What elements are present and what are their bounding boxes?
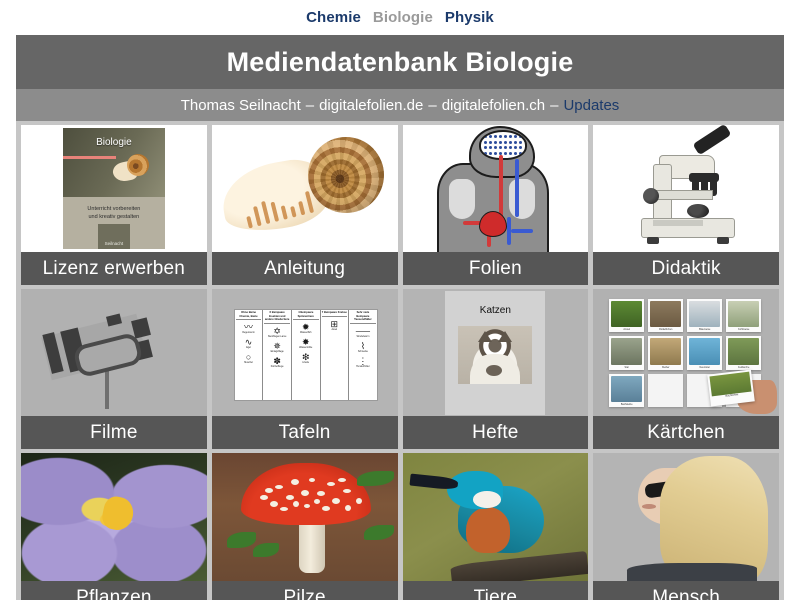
flashcard-label: Kohlmeise — [728, 327, 759, 332]
book-subtitle-line-2: und kreativ gestalten — [63, 213, 165, 222]
tile-image-area: AmselRotkehlchenBlaumeiseKohlmeiseStarKl… — [593, 289, 779, 416]
tile-kaertchen[interactable]: AmselRotkehlchenBlaumeiseKohlmeiseStarKl… — [593, 289, 779, 449]
chart-column-header: Sehr viele Beinpaare Tausendfüßer — [350, 311, 376, 324]
flashcard[interactable]: Blaumeise — [687, 299, 722, 332]
flashcard[interactable]: Feldlerche — [726, 336, 761, 369]
flashcard-label: Bachstelze — [611, 402, 642, 407]
chart-entry: ⊞Assel — [322, 320, 348, 332]
chart-entry: ✡Steinfliegen-Larve — [264, 327, 290, 339]
chart-entry: ✸Wassermilbe — [293, 338, 319, 350]
nautilus-shell-image — [212, 125, 398, 252]
flashcard-label: Kleiber — [650, 365, 681, 370]
tile-caption-folien[interactable]: Folien — [403, 252, 589, 285]
chart-column-header: 7 Beinpaare Krebse — [322, 311, 348, 317]
tile-image-area: Katzen — [403, 289, 589, 416]
chart-column-header: Ohne Beine Chemie, Bezie — [236, 311, 262, 320]
publisher-logo: Seilnacht — [98, 224, 130, 249]
nav-item-chemie[interactable]: Chemie — [306, 9, 361, 26]
tile-image-area — [593, 125, 779, 252]
book-cover-title: Biologie — [63, 137, 165, 148]
tile-caption-tafeln[interactable]: Tafeln — [212, 416, 398, 449]
top-navigation: Chemie Biologie Physik — [0, 0, 800, 35]
chart-column-header: 6 Beinpaare Insekten und andere Gliedert… — [264, 311, 290, 324]
human-circulatory-system-image — [403, 125, 589, 252]
book-cover-image: Biologie Unterricht vorbereiten und krea… — [63, 128, 165, 249]
tile-image-area: Biologie Unterricht vorbereiten und krea… — [21, 125, 207, 252]
book-cover-rule — [63, 156, 116, 159]
nautilus-icon — [113, 154, 149, 184]
tile-folien[interactable]: Folien — [403, 125, 589, 285]
book-subtitle-line-1: Unterricht vorbereiten — [63, 205, 165, 214]
chart-column: Sehr viele Beinpaare Tausendfüßer⸺Strude… — [349, 310, 377, 400]
subtitle-bar: Thomas Seilnacht – digitalefolien.de – d… — [16, 89, 784, 121]
booklet-image: Katzen — [445, 291, 545, 415]
tile-grid: Biologie Unterricht vorbereiten und krea… — [16, 121, 784, 600]
chart-entry: ∿Egel — [236, 338, 262, 350]
chart-column: 4 Beinpaare Spinnentiere✹Wasserfloh✸Wass… — [292, 310, 321, 400]
tile-caption-tiere[interactable]: Tiere — [403, 581, 589, 600]
page-title: Mediendatenbank Biologie — [227, 47, 574, 78]
flashcard[interactable]: Amsel — [609, 299, 644, 332]
link-digitalefolien-de[interactable]: digitalefolien.de — [319, 97, 423, 114]
tile-image-area — [21, 289, 207, 416]
nav-item-biologie[interactable]: Biologie — [373, 9, 433, 26]
tile-caption-hefte[interactable]: Hefte — [403, 416, 589, 449]
tile-pflanzen[interactable]: Pflanzen — [21, 453, 207, 600]
held-flashcard: Buchfinken — [707, 369, 755, 406]
chart-column-header: 4 Beinpaare Spinnentiere — [293, 311, 319, 320]
tile-image-area — [212, 125, 398, 252]
flashcard-label: Neuntoter — [689, 365, 720, 370]
tile-image-area — [593, 453, 779, 581]
woman-profile-photo — [593, 453, 779, 581]
book-cover-subtitle: Unterricht vorbereiten und kreativ gesta… — [63, 205, 165, 222]
flashcard[interactable]: Star — [609, 336, 644, 369]
microscope-image — [593, 125, 779, 252]
cat-photo — [458, 326, 532, 384]
tile-caption-anleitung[interactable]: Anleitung — [212, 252, 398, 285]
flashcard-label: Star — [611, 365, 642, 370]
chart-entry: ❇Libelle — [293, 353, 319, 365]
tile-tafeln[interactable]: Ohne Beine Chemie, Bezie〰Regenwurm∿Egel○… — [212, 289, 398, 449]
chart-entry: ✽Köcherfliege — [264, 357, 290, 369]
chart-entry: ⌇Schnecke — [350, 342, 376, 354]
chart-column: Ohne Beine Chemie, Bezie〰Regenwurm∿Egel○… — [235, 310, 264, 400]
tile-image-area: Ohne Beine Chemie, Bezie〰Regenwurm∿Egel○… — [212, 289, 398, 416]
book-cover-top: Biologie — [63, 128, 165, 197]
flashcard-label: Rotkehlchen — [650, 327, 681, 332]
kingfisher-photo — [403, 453, 589, 581]
identification-chart-image: Ohne Beine Chemie, Bezie〰Regenwurm∿Egel○… — [234, 309, 378, 401]
publisher-name: Seilnacht — [105, 241, 124, 249]
flashcard[interactable]: Kleiber — [648, 336, 683, 369]
booklet-title: Katzen — [445, 291, 545, 316]
flashcard[interactable]: Rotkehlchen — [648, 299, 683, 332]
chart-entry: ⸺Strudelwurm — [350, 327, 376, 339]
tile-anleitung[interactable]: Anleitung — [212, 125, 398, 285]
film-camera-image — [21, 289, 207, 416]
tile-caption-didaktik[interactable]: Didaktik — [593, 252, 779, 285]
chart-entry: ✵Eintagsfliege — [264, 342, 290, 354]
byline-sep-2: – — [428, 97, 436, 114]
link-digitalefolien-ch[interactable]: digitalefolien.ch — [442, 97, 545, 114]
chart-column: 7 Beinpaare Krebse⊞Assel — [321, 310, 350, 400]
flashcard-label: Amsel — [611, 327, 642, 332]
tile-pilze[interactable]: Pilze — [212, 453, 398, 600]
tile-filme[interactable]: Filme — [21, 289, 207, 449]
flashcard[interactable]: Bachstelze — [609, 374, 644, 407]
flashcard-label: Blaumeise — [689, 327, 720, 332]
content-container: Mediendatenbank Biologie Thomas Seilnach… — [16, 35, 784, 600]
tile-mensch[interactable]: Mensch — [593, 453, 779, 600]
tile-lizenz-erwerben[interactable]: Biologie Unterricht vorbereiten und krea… — [21, 125, 207, 285]
tile-image-area — [403, 125, 589, 252]
tile-image-area — [403, 453, 589, 581]
tile-caption-mensch[interactable]: Mensch — [593, 581, 779, 600]
tile-image-area — [21, 453, 207, 581]
tile-caption-kaertchen[interactable]: Kärtchen — [593, 416, 779, 449]
byline-sep-3: – — [550, 97, 558, 114]
tile-tiere[interactable]: Tiere — [403, 453, 589, 600]
tile-hefte[interactable]: Katzen Hefte — [403, 289, 589, 449]
chart-entry: ⋮Hundertfüßer — [350, 357, 376, 369]
crocus-flower-photo — [21, 453, 207, 581]
link-updates[interactable]: Updates — [563, 97, 619, 114]
chart-entry: ○Muschel — [236, 353, 262, 365]
tile-image-area — [212, 453, 398, 581]
chart-entry: ✹Wasserfloh — [293, 323, 319, 335]
nav-item-physik[interactable]: Physik — [445, 9, 494, 26]
book-cover-bottom: Unterricht vorbereiten und kreativ gesta… — [63, 197, 165, 249]
fly-agaric-photo — [212, 453, 398, 581]
flashcard-label: Feldlerche — [728, 365, 759, 370]
tile-caption-filme[interactable]: Filme — [21, 416, 207, 449]
chart-column: 6 Beinpaare Insekten und andere Gliedert… — [263, 310, 292, 400]
byline-sep-1: – — [306, 97, 314, 114]
chart-entry: 〰Regenwurm — [236, 323, 262, 335]
byline-author: Thomas Seilnacht — [181, 97, 301, 114]
tile-caption-pflanzen[interactable]: Pflanzen — [21, 581, 207, 600]
flashcard-empty-slot[interactable] — [648, 374, 683, 407]
page-root: Chemie Biologie Physik Mediendatenbank B… — [0, 0, 800, 600]
flashcard[interactable]: Neuntoter — [687, 336, 722, 369]
tile-caption-pilze[interactable]: Pilze — [212, 581, 398, 600]
tile-caption-lizenz[interactable]: Lizenz erwerben — [21, 252, 207, 285]
title-bar: Mediendatenbank Biologie — [16, 35, 784, 89]
flashcard[interactable]: Kohlmeise — [726, 299, 761, 332]
tile-didaktik[interactable]: Didaktik — [593, 125, 779, 285]
